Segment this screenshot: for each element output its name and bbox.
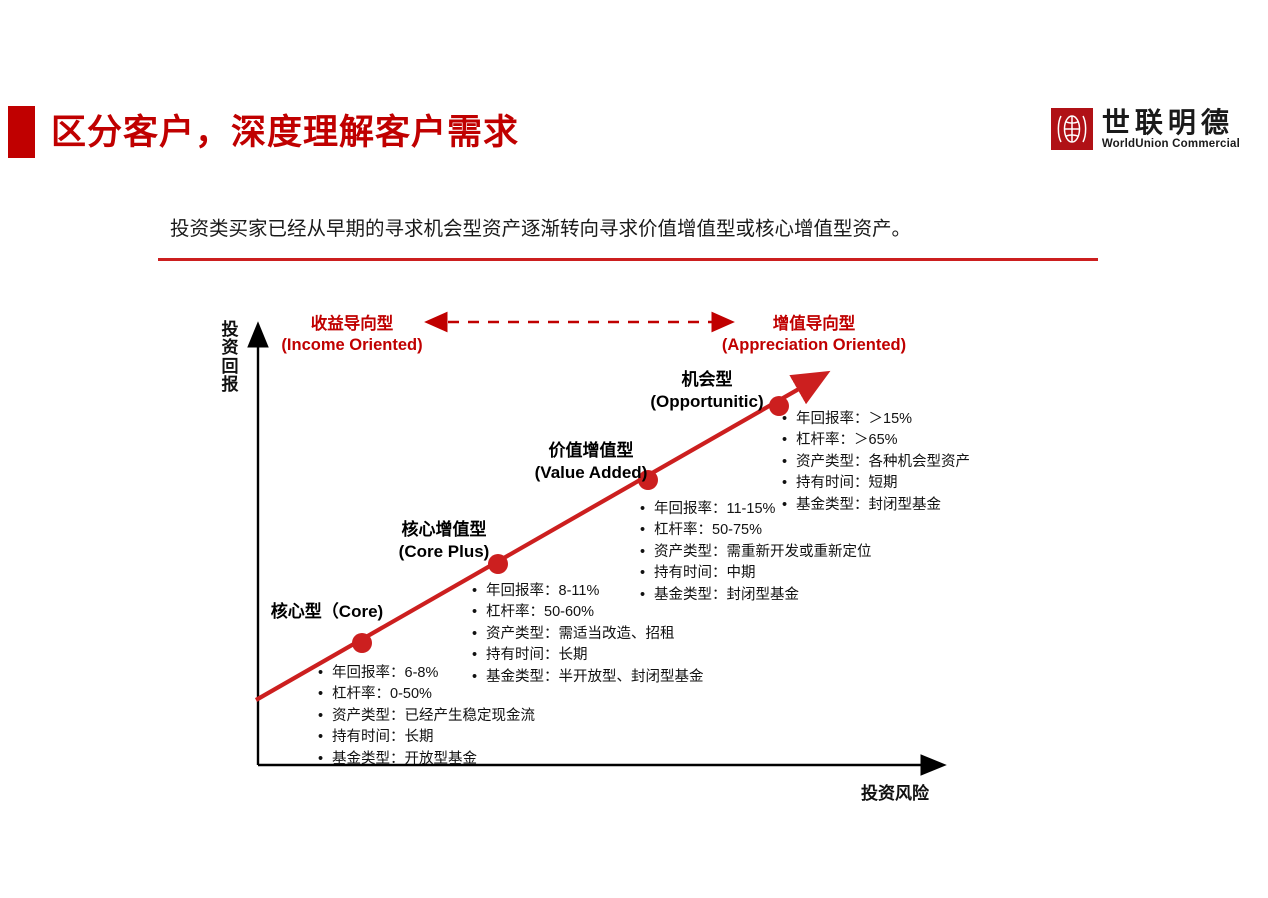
list-item: •杠杆率：＞65% [782, 430, 970, 451]
list-item: •杠杆率：50-75% [640, 520, 872, 541]
list-item-text: 基金类型：封闭型基金 [654, 585, 799, 606]
list-item: •资产类型：需重新开发或重新定位 [640, 542, 872, 563]
list-item: •资产类型：各种机会型资产 [782, 452, 970, 473]
bullet-dot-icon: • [640, 499, 654, 520]
bullet-dot-icon: • [472, 645, 486, 666]
list-item: •持有时间：长期 [472, 645, 704, 666]
appreciation-oriented-label: 增值导向型 (Appreciation Oriented) [717, 314, 911, 356]
bullet-dot-icon: • [782, 430, 796, 451]
list-item: •年回报率：＞15% [782, 409, 970, 430]
bullet-dot-icon: • [782, 452, 796, 473]
list-item: •基金类型：封闭型基金 [782, 495, 970, 516]
brand-name-cn: 世联明德 [1102, 108, 1240, 137]
bullet-dot-icon: • [472, 602, 486, 623]
attribute-list-opportunistic: •年回报率：＞15% •杠杆率：＞65% •资产类型：各种机会型资产 •持有时间… [782, 409, 970, 516]
income-oriented-label: 收益导向型 (Income Oriented) [276, 314, 428, 356]
appreciation-oriented-label-cn: 增值导向型 [717, 314, 911, 335]
worldunion-globe-mark-icon [1051, 108, 1093, 150]
list-item-text: 基金类型：封闭型基金 [796, 495, 941, 516]
page-title-text: 区分客户，深度理解客户需求 [51, 115, 519, 150]
list-item-text: 基金类型：半开放型、封闭型基金 [486, 667, 704, 688]
x-axis-label: 投资风险 [861, 779, 929, 804]
bullet-dot-icon: • [472, 667, 486, 688]
list-item-text: 持有时间：长期 [332, 727, 434, 748]
node-title-core-text: 核心型（Core) [271, 602, 383, 621]
list-item: •持有时间：短期 [782, 473, 970, 494]
income-oriented-label-en: (Income Oriented) [276, 335, 428, 356]
list-item-text: 杠杆率：50-75% [654, 520, 762, 541]
bullet-dot-icon: • [318, 727, 332, 748]
y-axis-label: 投 资 回 报 [219, 321, 241, 394]
list-item-text: 资产类型：需适当改造、招租 [486, 624, 675, 645]
bullet-dot-icon: • [640, 585, 654, 606]
node-title-value-added-cn: 价值增值型 [522, 440, 660, 462]
subtitle-divider [158, 258, 1098, 261]
list-item-text: 资产类型：需重新开发或重新定位 [654, 542, 872, 563]
list-item-text: 杠杆率：50-60% [486, 602, 594, 623]
list-item: •资产类型：已经产生稳定现金流 [318, 706, 535, 727]
list-item-text: 年回报率：＞15% [796, 409, 912, 430]
brand-logo: 世联明德 WorldUnion Commercial [1051, 108, 1240, 150]
bullet-dot-icon: • [318, 706, 332, 727]
bullet-dot-icon: • [782, 495, 796, 516]
list-item-text: 资产类型：各种机会型资产 [796, 452, 970, 473]
bullet-dot-icon: • [640, 542, 654, 563]
node-title-opportunistic-cn: 机会型 [640, 369, 774, 391]
risk-return-chart: 投 资 回 报 投资风险 收益导向型 (Income Oriented) 增值导… [0, 290, 1268, 830]
list-item: •资产类型：需适当改造、招租 [472, 624, 704, 645]
y-axis-label-char: 报 [219, 376, 241, 394]
slide-canvas: 区分客户，深度理解客户需求 世联明德 WorldUnion Commercial [0, 0, 1268, 898]
list-item-text: 年回报率：6-8% [332, 663, 438, 684]
list-item-text: 年回报率：11-15% [654, 499, 775, 520]
y-axis-label-char: 投 [219, 321, 241, 339]
list-item: •基金类型：开放型基金 [318, 749, 535, 770]
list-item-text: 持有时间：短期 [796, 473, 898, 494]
node-title-value-added-en: (Value Added) [522, 462, 660, 484]
brand-logo-wordmark: 世联明德 WorldUnion Commercial [1102, 108, 1240, 150]
y-axis-label-char: 回 [219, 358, 241, 376]
bullet-dot-icon: • [318, 684, 332, 705]
list-item-text: 年回报率：8-11% [486, 581, 599, 602]
subtitle-text: 投资类买家已经从早期的寻求机会型资产逐渐转向寻求价值增值型或核心增值型资产。 [170, 212, 911, 241]
bullet-dot-icon: • [640, 520, 654, 541]
list-item-text: 资产类型：已经产生稳定现金流 [332, 706, 535, 727]
list-item-text: 持有时间：长期 [486, 645, 588, 666]
income-oriented-label-cn: 收益导向型 [276, 314, 428, 335]
appreciation-oriented-label-en: (Appreciation Oriented) [717, 335, 911, 356]
list-item: •持有时间：中期 [640, 563, 872, 584]
node-title-opportunistic: 机会型 (Opportunitic) [640, 369, 774, 413]
list-item-text: 杠杆率：＞65% [796, 430, 898, 451]
list-item: •基金类型：半开放型、封闭型基金 [472, 667, 704, 688]
list-item-text: 杠杆率：0-50% [332, 684, 432, 705]
bullet-dot-icon: • [782, 409, 796, 430]
bullet-dot-icon: • [318, 663, 332, 684]
bullet-dot-icon: • [318, 749, 332, 770]
page-title: 区分客户，深度理解客户需求 [8, 104, 519, 160]
node-title-opportunistic-en: (Opportunitic) [640, 391, 774, 413]
node-title-core-plus-en: (Core Plus) [383, 541, 505, 563]
title-accent-square [8, 106, 35, 158]
node-title-core: 核心型（Core) [266, 601, 388, 623]
list-item-text: 基金类型：开放型基金 [332, 749, 477, 770]
bullet-dot-icon: • [472, 624, 486, 645]
node-title-core-plus-cn: 核心增值型 [383, 519, 505, 541]
data-point-core [352, 633, 372, 653]
list-item-text: 持有时间：中期 [654, 563, 756, 584]
list-item: •基金类型：封闭型基金 [640, 585, 872, 606]
bullet-dot-icon: • [782, 473, 796, 494]
list-item: •持有时间：长期 [318, 727, 535, 748]
node-title-core-plus: 核心增值型 (Core Plus) [383, 519, 505, 563]
node-title-value-added: 价值增值型 (Value Added) [522, 440, 660, 484]
bullet-dot-icon: • [472, 581, 486, 602]
y-axis-label-char: 资 [219, 339, 241, 357]
brand-name-en: WorldUnion Commercial [1102, 138, 1240, 150]
bullet-dot-icon: • [640, 563, 654, 584]
